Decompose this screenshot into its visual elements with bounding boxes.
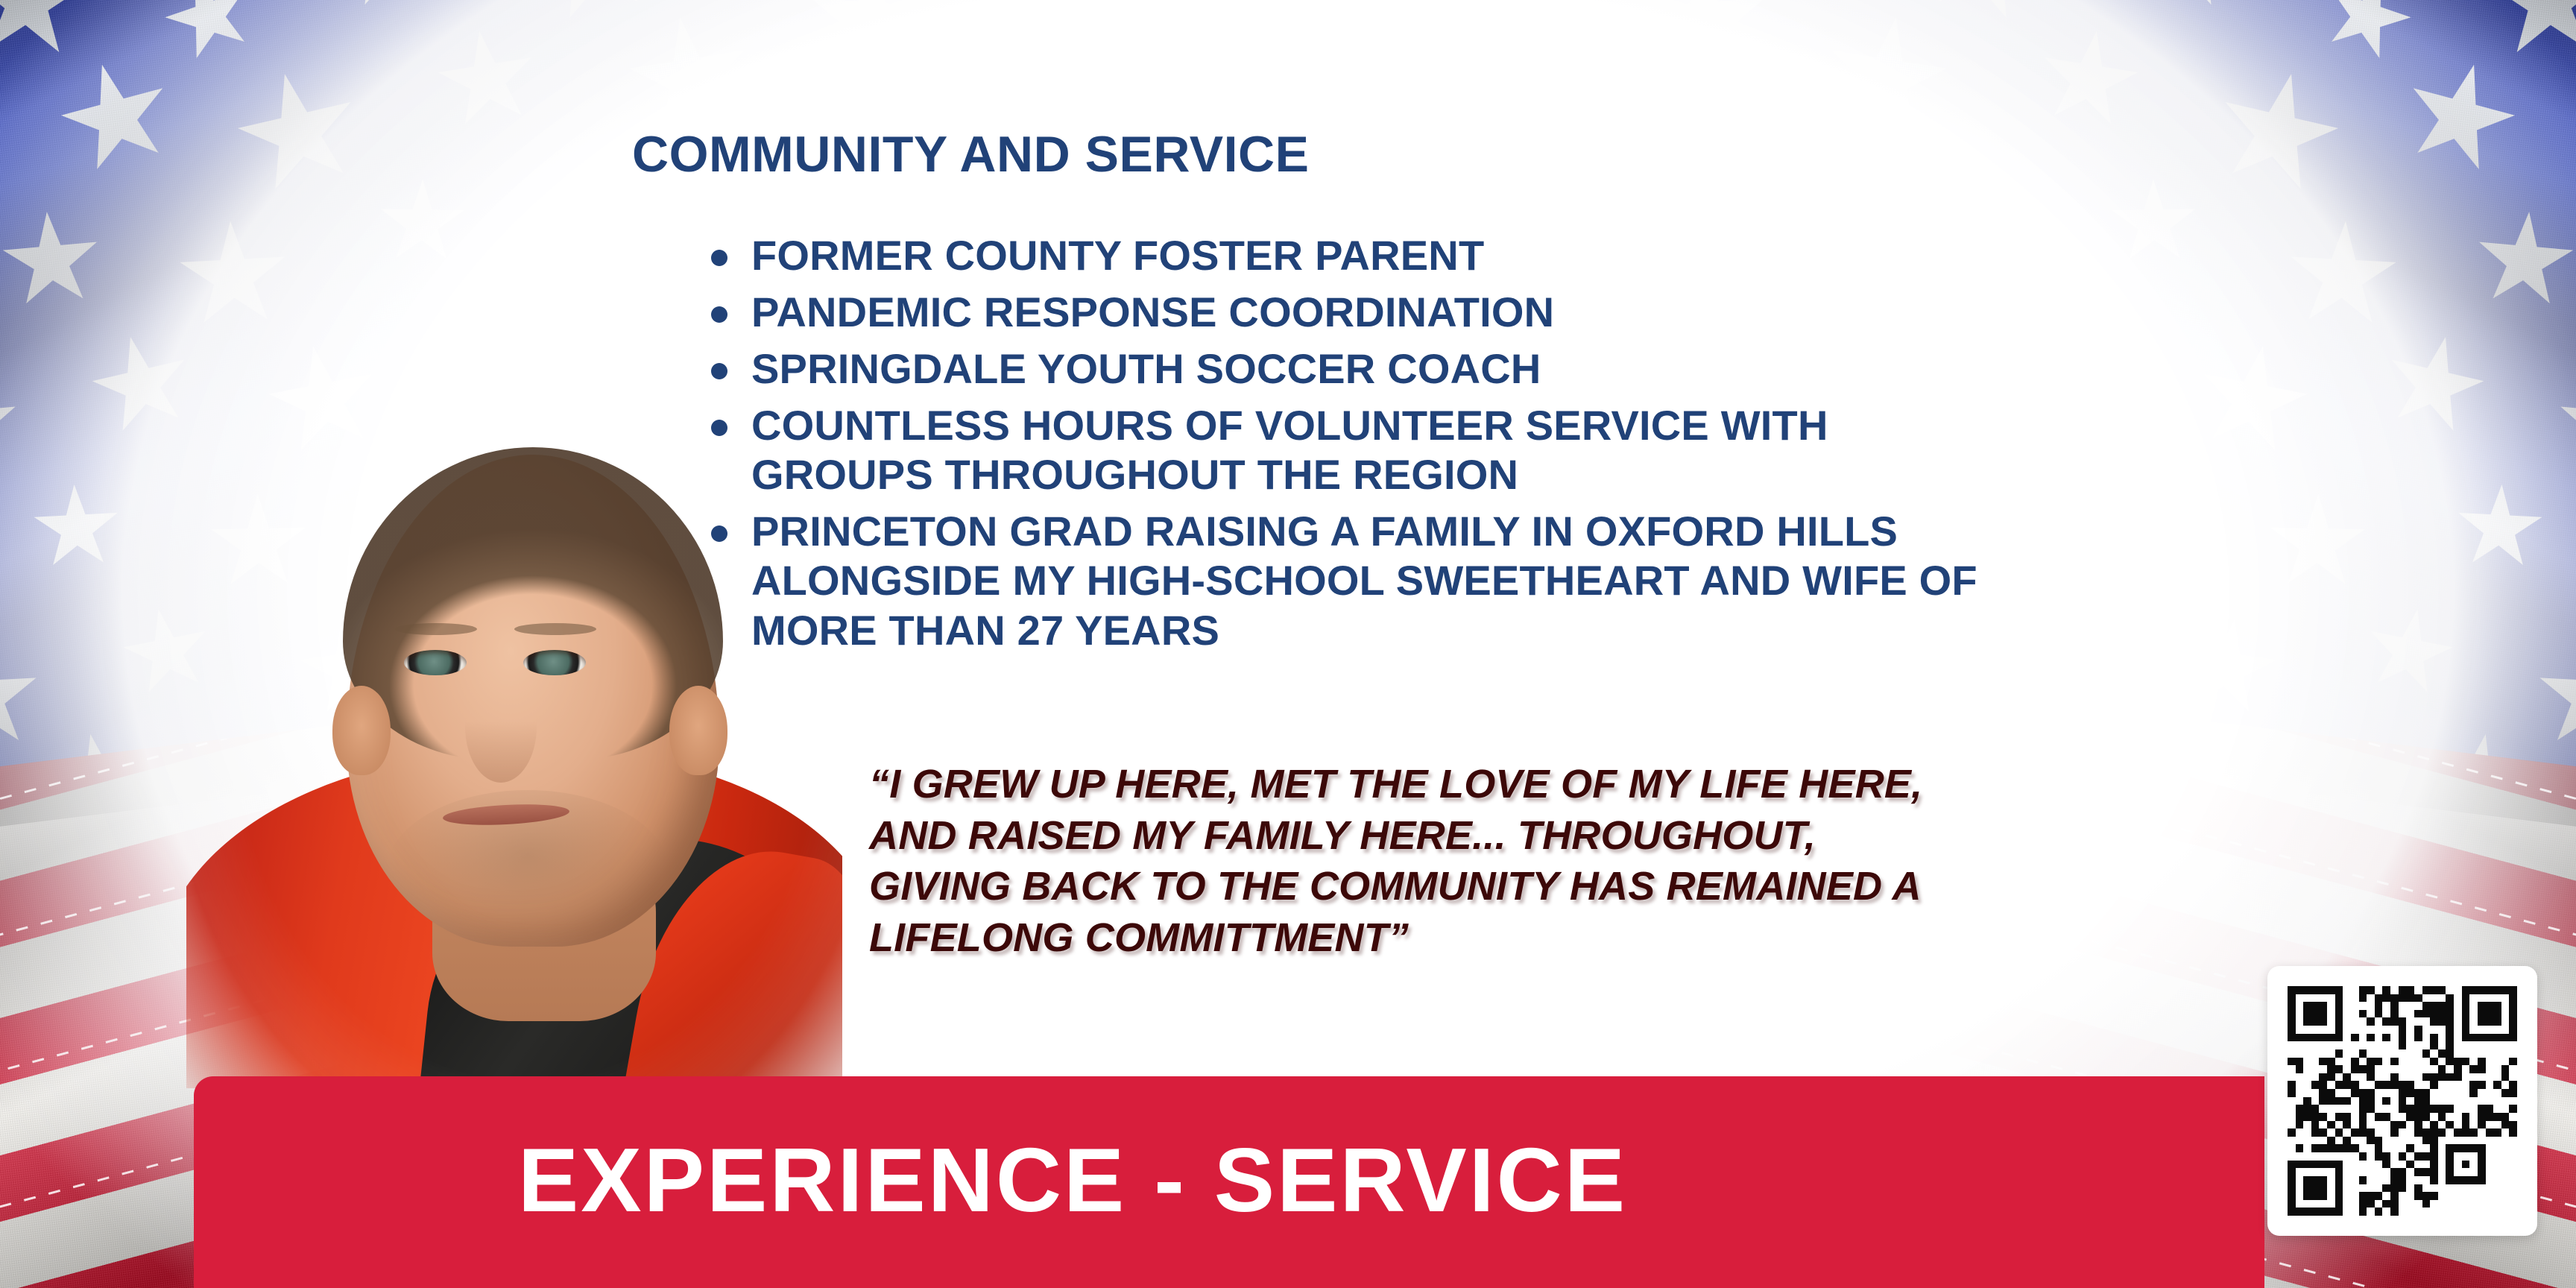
list-item: PANDEMIC RESPONSE COORDINATION <box>710 288 1999 337</box>
list-item: COUNTLESS HOURS OF VOLUNTEER SERVICE WIT… <box>710 401 1999 499</box>
banner-label: EXPERIENCE - SERVICE <box>194 1128 2264 1232</box>
list-item: PRINCETON GRAD RAISING A FAMILY IN OXFOR… <box>710 507 1999 654</box>
credentials-list: FORMER COUNTY FOSTER PARENT PANDEMIC RES… <box>710 231 1999 663</box>
pull-quote: “I GREW UP HERE, MET THE LOVE OF MY LIFE… <box>869 759 2121 963</box>
list-item: SPRINGDALE YOUTH SOCCER COACH <box>710 344 1999 394</box>
qr-code-icon[interactable] <box>2288 986 2517 1216</box>
campaign-poster: COMMUNITY AND SERVICE FORMER COUNTY FOST… <box>0 0 2576 1288</box>
list-item: FORMER COUNTY FOSTER PARENT <box>710 231 1999 280</box>
quote-line: GIVING BACK TO THE COMMUNITY HAS REMAINE… <box>869 861 2121 912</box>
quote-line: “I GREW UP HERE, MET THE LOVE OF MY LIFE… <box>869 759 2121 810</box>
quote-line: LIFELONG COMMITTMENT” <box>869 912 2121 964</box>
experience-service-banner: EXPERIENCE - SERVICE <box>194 1076 2264 1288</box>
quote-line: AND RAISED MY FAMILY HERE... THROUGHOUT, <box>869 810 2121 862</box>
qr-code-card[interactable] <box>2267 966 2537 1236</box>
page-title: COMMUNITY AND SERVICE <box>632 125 1309 183</box>
